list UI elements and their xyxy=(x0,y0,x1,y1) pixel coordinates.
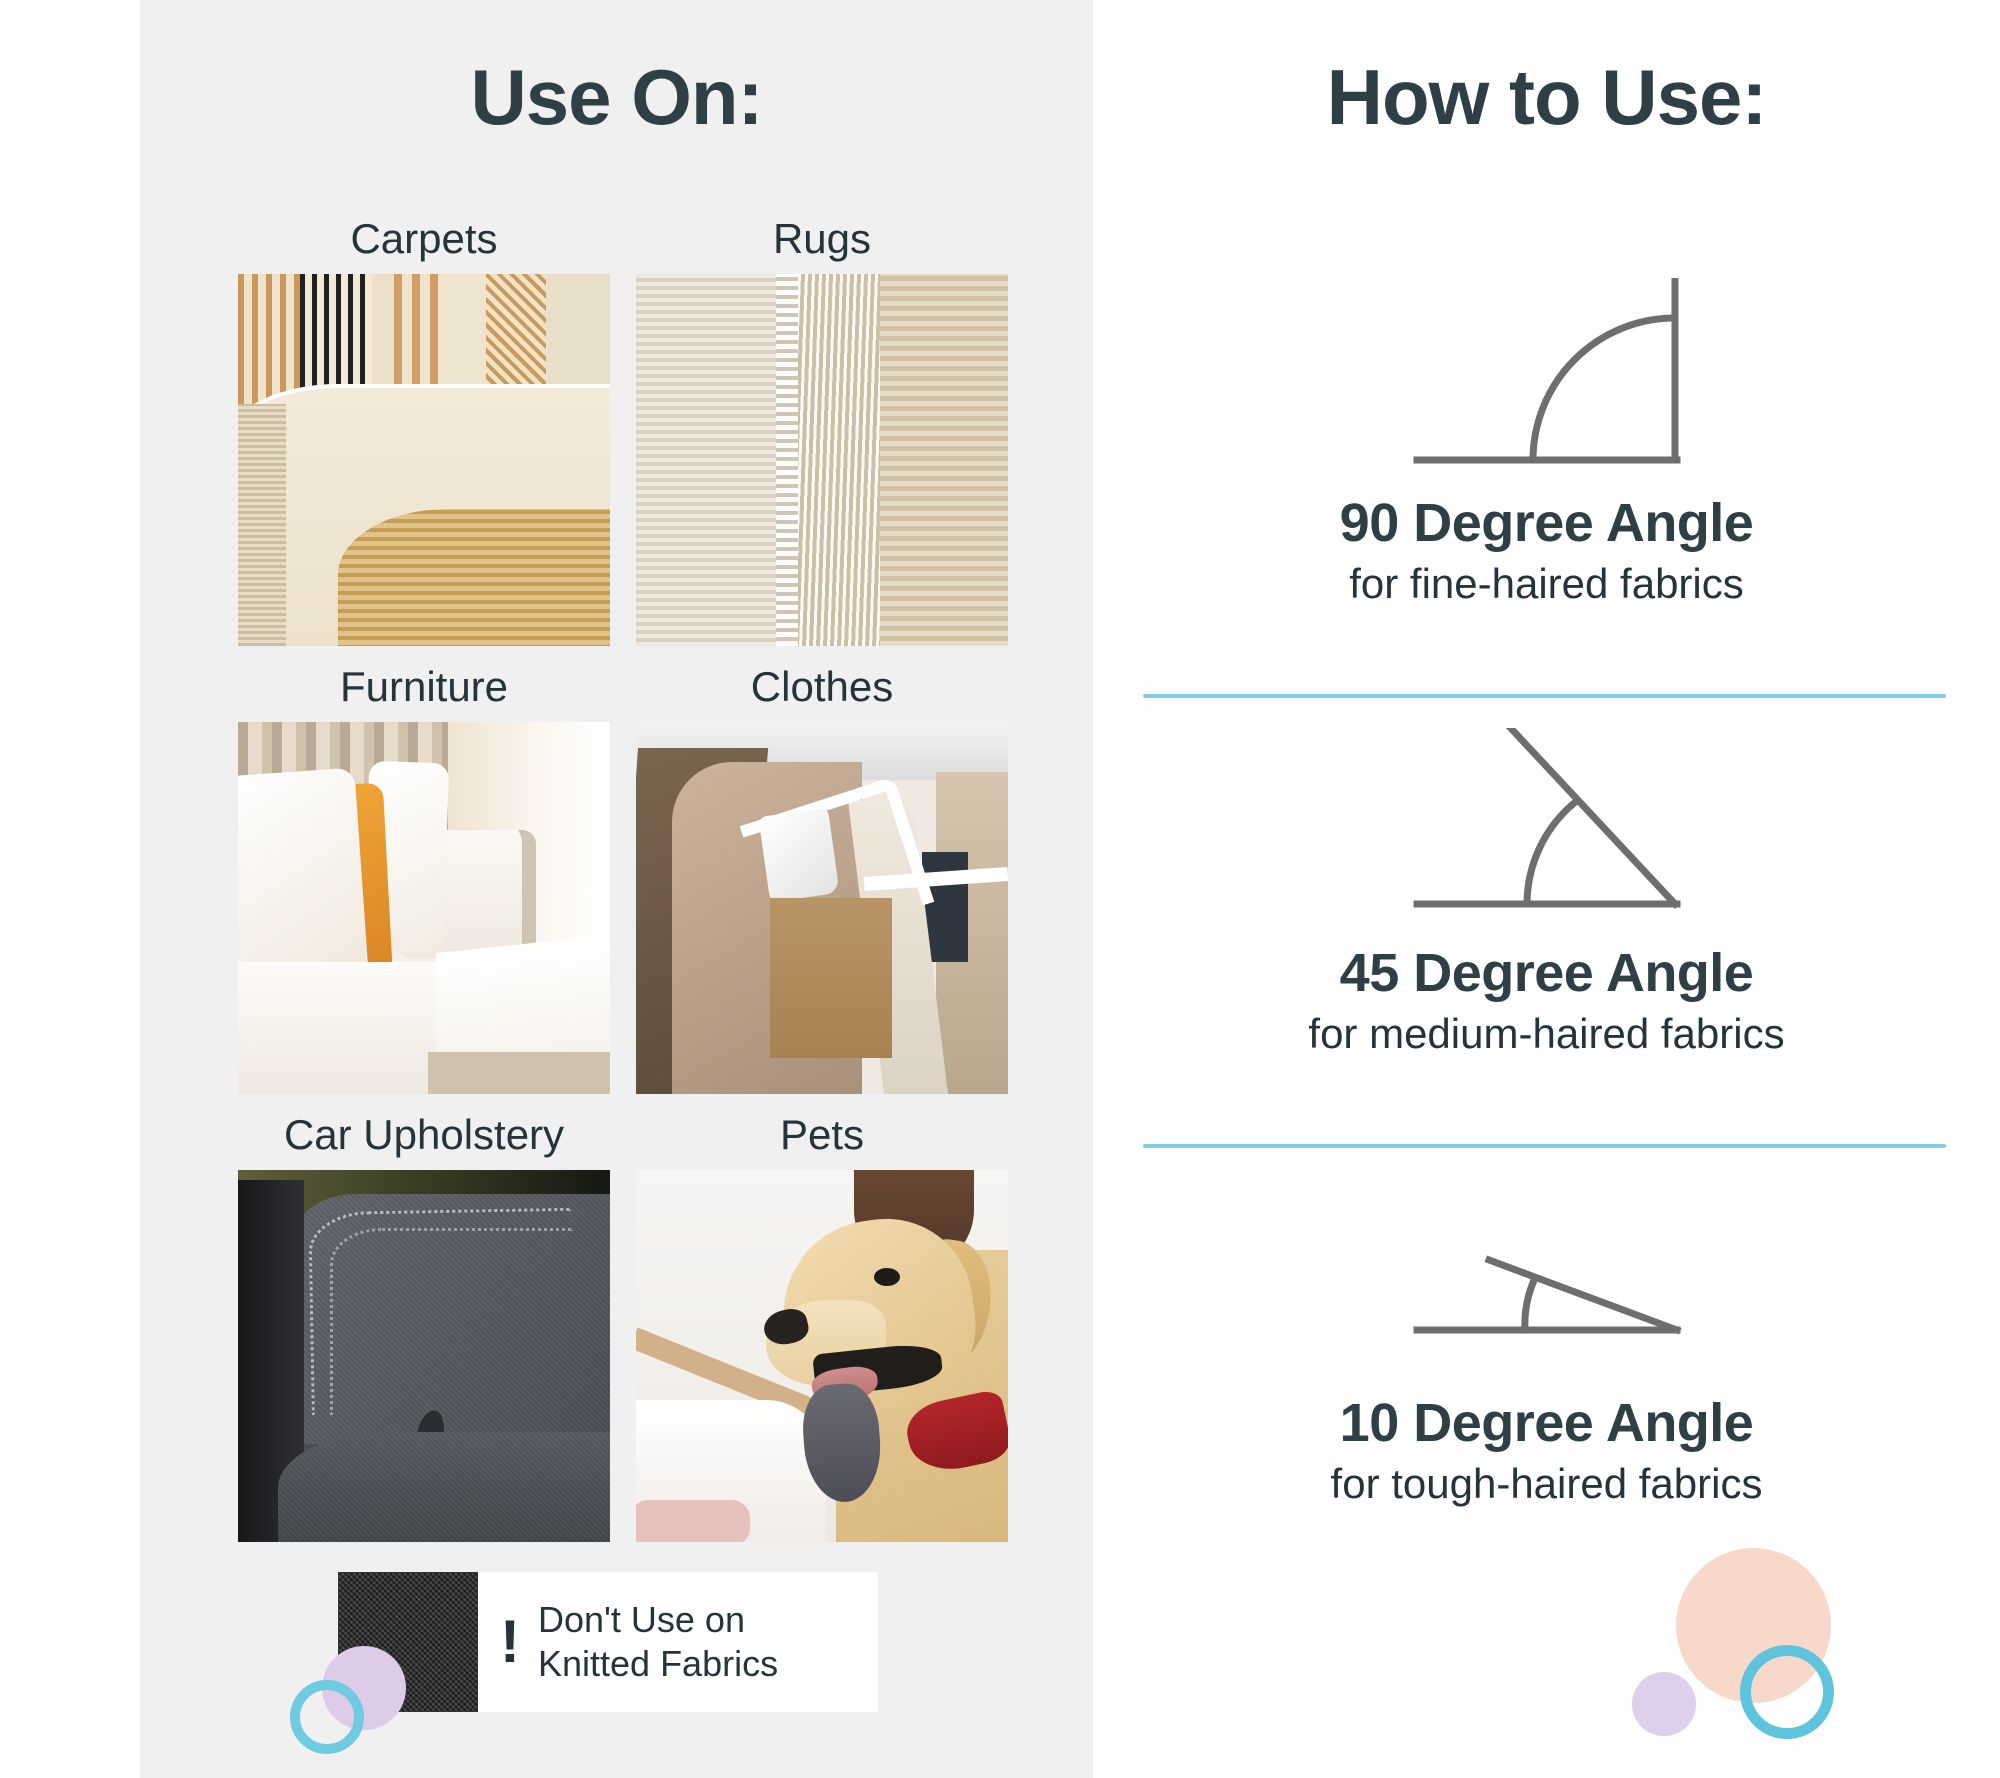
use-on-cell-clothes[interactable]: Clothes xyxy=(636,658,1008,1094)
ninety-degree-angle-icon xyxy=(1093,268,2000,478)
carpet-fringe xyxy=(238,404,286,646)
use-on-label-rugs: Rugs xyxy=(636,210,1008,268)
use-on-label-clothes: Clothes xyxy=(636,658,1008,716)
angle-title-90: 90 Degree Angle xyxy=(1093,492,2000,554)
ten-degree-angle-icon xyxy=(1093,1168,2000,1378)
clothes-clip xyxy=(758,808,839,903)
forty-five-degree-angle-icon xyxy=(1093,718,2000,928)
use-on-cell-carpets[interactable]: Carpets xyxy=(238,210,610,646)
clothes-kraft-tag xyxy=(770,898,892,1058)
hanging-clothes-photo xyxy=(636,722,1008,1094)
car-seat-stitch-inner xyxy=(330,1228,573,1415)
use-on-cell-car-upholstery[interactable]: Car Upholstery xyxy=(238,1106,610,1542)
rug-backing xyxy=(880,274,1008,646)
use-on-cell-furniture[interactable]: Furniture xyxy=(238,658,610,1094)
angle-subtitle-45: for medium-haired fabrics xyxy=(1093,1010,2000,1058)
section-divider-1 xyxy=(1143,694,1946,698)
decorative-circles-bottom-right xyxy=(1620,1540,2000,1778)
use-on-row-3: Car Upholstery Pets xyxy=(238,1106,1008,1542)
angle-subtitle-10: for tough-haired fabrics xyxy=(1093,1460,2000,1508)
warning-text-box: ! Don't Use on Knitted Fabrics xyxy=(478,1572,878,1712)
exclamation-icon: ! xyxy=(500,1612,520,1672)
rug-fringe-photo xyxy=(636,274,1008,646)
section-divider-2 xyxy=(1143,1144,1946,1148)
dog-pink-cushion xyxy=(636,1500,750,1542)
use-on-title: Use On: xyxy=(140,52,1093,143)
use-on-label-furniture: Furniture xyxy=(238,658,610,716)
dog-eye xyxy=(874,1268,900,1286)
use-on-cell-pets[interactable]: Pets xyxy=(636,1106,1008,1542)
carpets-weave-photo xyxy=(238,274,610,646)
use-on-row-1: Carpets Rugs xyxy=(238,210,1008,646)
sofa-pillows-photo xyxy=(238,722,610,1094)
carpet-tan-weave xyxy=(338,509,610,646)
teal-ring-icon xyxy=(290,1680,364,1754)
decorative-circles-bottom-left xyxy=(140,1620,460,1778)
angle-title-45: 45 Degree Angle xyxy=(1093,942,2000,1004)
angle-subtitle-90: for fine-haired fabrics xyxy=(1093,560,2000,608)
sofa-base xyxy=(428,1052,610,1094)
rug-seam xyxy=(776,274,798,646)
use-on-label-carpets: Carpets xyxy=(238,210,610,268)
angle-section-10: 10 Degree Angle for tough-haired fabrics xyxy=(1093,1168,2000,1508)
teal-ring-icon xyxy=(1740,1645,1834,1739)
angle-section-45: 45 Degree Angle for medium-haired fabric… xyxy=(1093,718,2000,1058)
use-on-label-pets: Pets xyxy=(636,1106,1008,1164)
car-seat-photo xyxy=(238,1170,610,1542)
how-to-use-title: How to Use: xyxy=(1093,52,2000,143)
use-on-panel: Use On: Carpets Rugs xyxy=(140,0,1093,1778)
rug-flat-weave xyxy=(636,274,776,646)
warning-message: Don't Use on Knitted Fabrics xyxy=(538,1598,778,1686)
warning-line-1: Don't Use on xyxy=(538,1598,778,1642)
angle-title-10: 10 Degree Angle xyxy=(1093,1392,2000,1454)
golden-retriever-dog-photo xyxy=(636,1170,1008,1542)
warning-line-2: Knitted Fabrics xyxy=(538,1642,778,1686)
car-seat-base xyxy=(278,1432,610,1542)
use-on-row-2: Furniture Clothes xyxy=(238,658,1008,1094)
how-to-use-panel: How to Use: 90 Degree Angle for fine-hai… xyxy=(1093,0,2000,1778)
use-on-label-car-upholstery: Car Upholstery xyxy=(238,1106,610,1164)
purple-circle-icon xyxy=(1632,1672,1696,1736)
use-on-grid: Carpets Rugs Furnitur xyxy=(238,210,1008,1554)
angle-section-90: 90 Degree Angle for fine-haired fabrics xyxy=(1093,268,2000,608)
rug-fringe xyxy=(798,274,880,646)
use-on-cell-rugs[interactable]: Rugs xyxy=(636,210,1008,646)
